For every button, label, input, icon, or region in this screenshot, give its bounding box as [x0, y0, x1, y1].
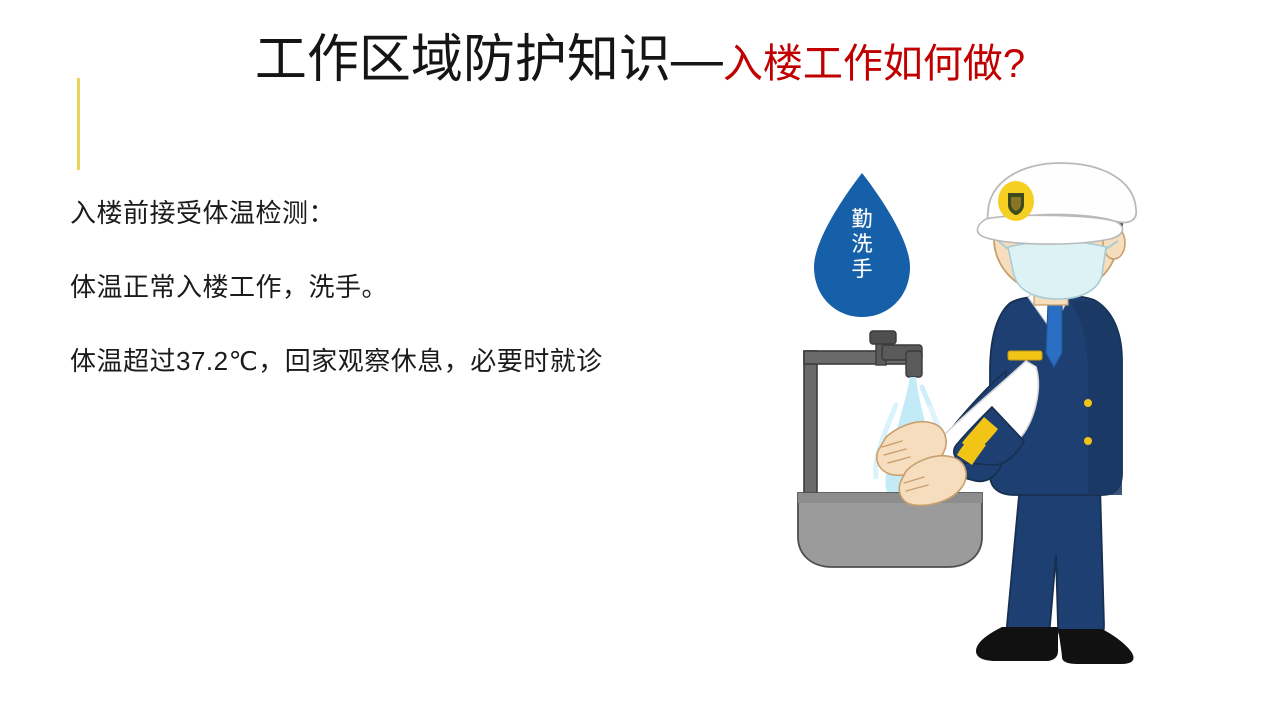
face-mask [1008, 241, 1106, 299]
shoe-right [1058, 629, 1134, 664]
necktie [1046, 305, 1062, 367]
slide-canvas: 工作区域防护知识—入楼工作如何做? 入楼前接受体温检测： 体温正常入楼工作，洗手… [0, 0, 1280, 717]
body-text-block: 入楼前接受体温检测： 体温正常入楼工作，洗手。 体温超过37.2℃，回家观察休息… [70, 200, 710, 374]
water-drop-icon [814, 173, 910, 317]
gold-accent-bar [77, 78, 80, 170]
page-title-main: 工作区域防护知识— [255, 31, 723, 89]
handwashing-illustration: 勤 洗 手 [770, 155, 1150, 685]
body-line-3: 体温超过37.2℃，回家观察休息，必要时就诊 [70, 348, 710, 374]
body-line-2: 体温正常入楼工作，洗手。 [70, 274, 710, 300]
page-title: 工作区域防护知识—入楼工作如何做? [0, 34, 1280, 86]
body-line-1: 入楼前接受体温检测： [70, 200, 710, 226]
cap-brim [977, 215, 1122, 244]
page-title-accent: 入楼工作如何做? [723, 42, 1025, 86]
shoe-left [976, 627, 1058, 661]
cap-badge-icon [998, 181, 1034, 221]
